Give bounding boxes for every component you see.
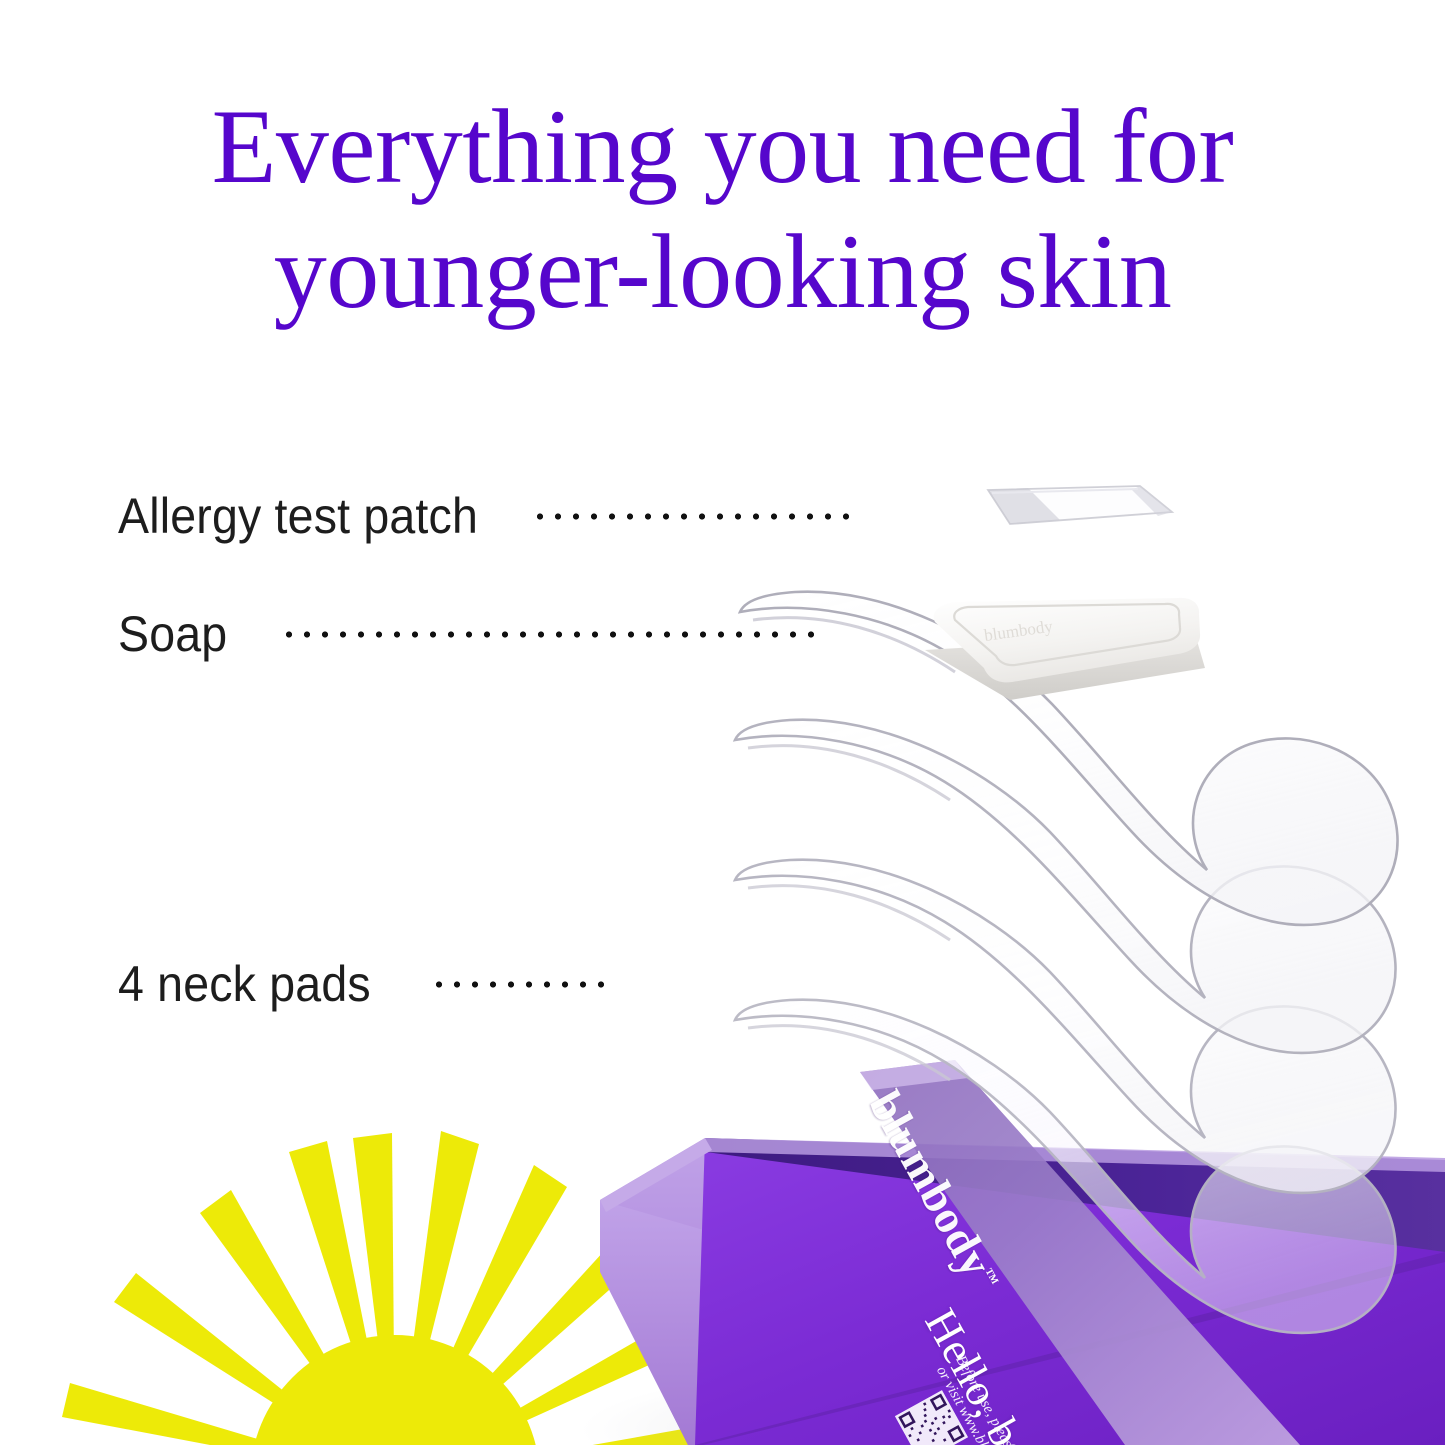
allergy-test-patch [988,486,1172,524]
feature-row-soap: Soap [118,605,825,663]
feature-label: 4 neck pads [118,955,371,1013]
product-image-cluster: blumbody blumbody™ Hello, beaut Before u… [0,0,1445,1445]
feature-label: Allergy test patch [118,487,478,545]
soap-bar: blumbody [925,598,1205,700]
dotted-leader [430,981,615,988]
product-feature-graphic: Everything you need for younger-looking … [0,0,1445,1445]
product-illustration: blumbody [0,0,1445,1445]
feature-row-neck-pads: 4 neck pads [118,955,615,1013]
feature-row-allergy-test-patch: Allergy test patch [118,487,851,545]
feature-label: Soap [118,605,227,663]
dotted-leader [280,631,825,638]
dotted-leader [531,513,851,520]
